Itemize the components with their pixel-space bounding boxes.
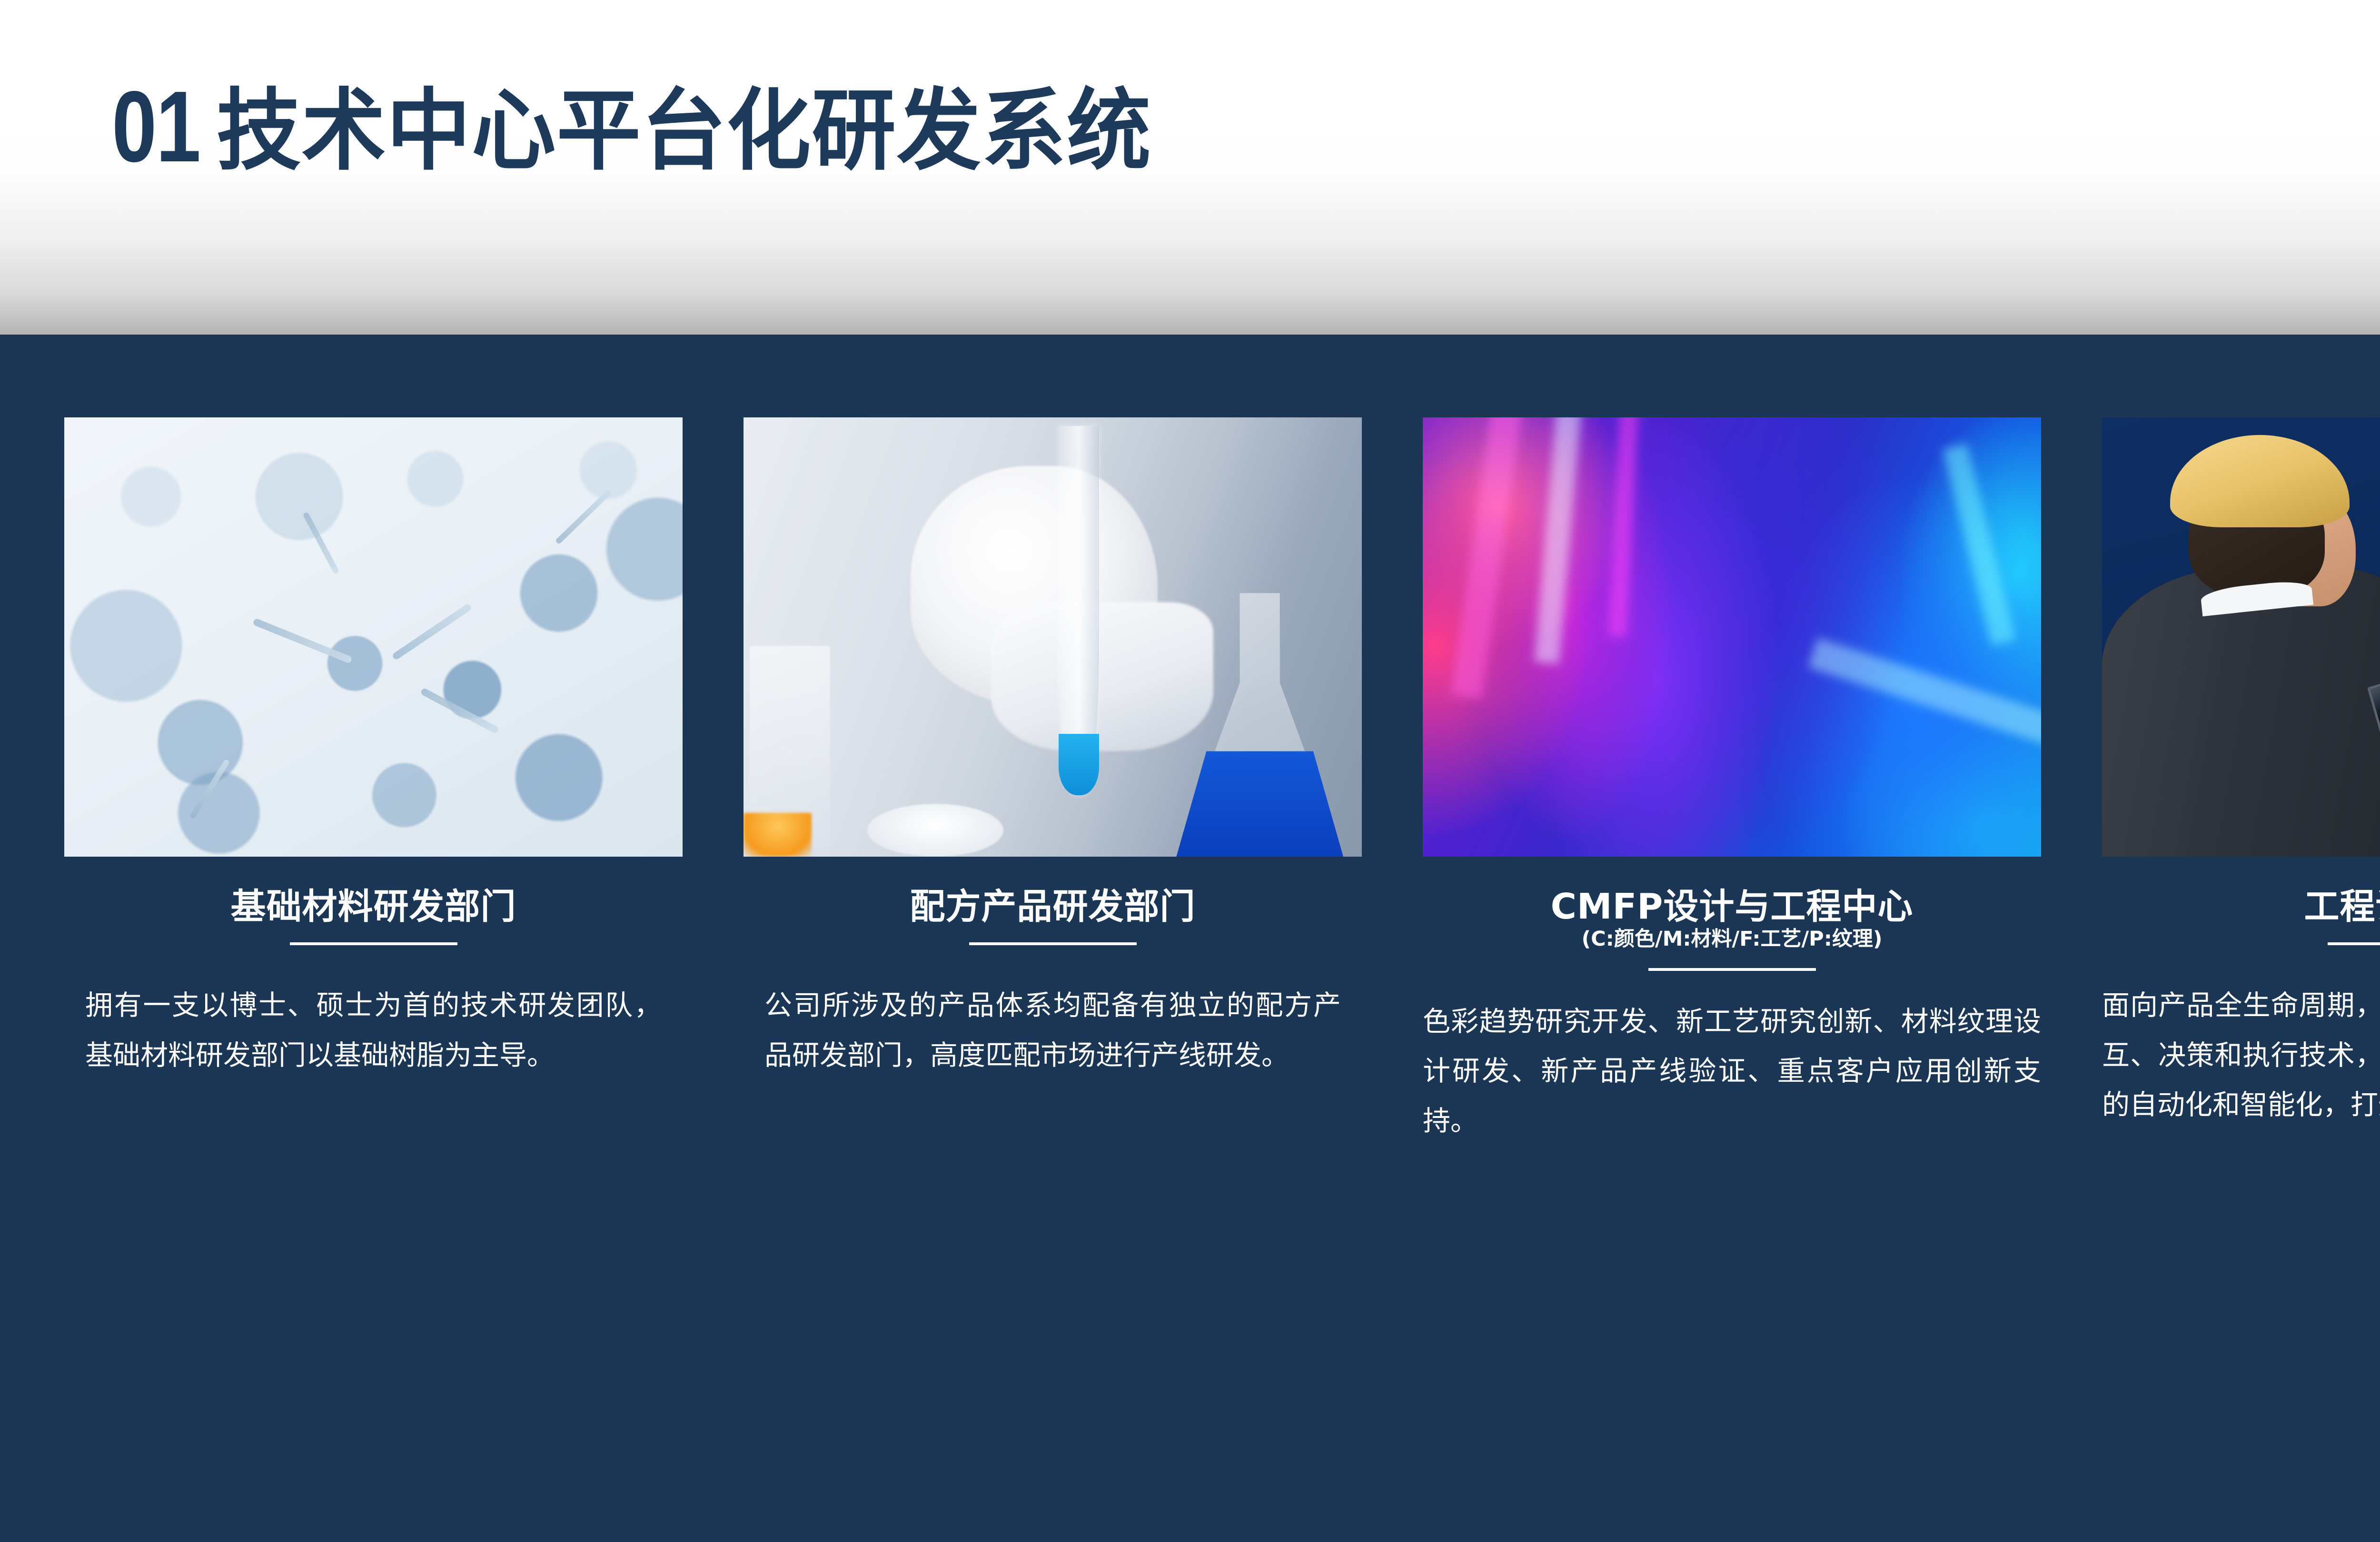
card-header: 基础材料研发部门 — [64, 857, 683, 945]
card-title: 工程设计中心 — [2102, 888, 2380, 925]
smart-engineering-hologram-image — [2102, 417, 2380, 857]
abstract-color-gradient-image — [1423, 417, 2041, 857]
card-title: 基础材料研发部门 — [64, 888, 683, 925]
title-divider — [1648, 968, 1816, 971]
card-grid: 基础材料研发部门 拥有一支以博士、硕士为首的技术研发团队，基础材料研发部门以基础… — [64, 417, 2380, 1146]
title-divider — [2328, 942, 2380, 945]
content-stage: 基础材料研发部门 拥有一支以博士、硕士为首的技术研发团队，基础材料研发部门以基础… — [0, 335, 2380, 1542]
card-description: 拥有一支以博士、硕士为首的技术研发团队，基础材料研发部门以基础树脂为主导。 — [64, 980, 683, 1080]
page-header: 01 技术中心平台化研发系统 — [0, 0, 2380, 335]
card-title: CMFP设计与工程中心 — [1423, 888, 2041, 925]
card-description: 面向产品全生命周期，通过智能化的感知、人机交互、决策和执行技术，实现设计、制造装… — [2102, 980, 2380, 1129]
card-cmfp-center[interactable]: CMFP设计与工程中心 (C:颜色/M:材料/F:工艺/P:纹理) 色彩趋势研究… — [1423, 417, 2041, 1146]
title-divider — [290, 942, 457, 945]
card-title: 配方产品研发部门 — [744, 888, 1362, 925]
card-description: 色彩趋势研究开发、新工艺研究创新、材料纹理设计研发、新产品产线验证、重点客户应用… — [1423, 997, 2041, 1146]
header-title-group: 01 技术中心平台化研发系统 — [112, 76, 1201, 177]
card-basic-materials[interactable]: 基础材料研发部门 拥有一支以博士、硕士为首的技术研发团队，基础材料研发部门以基础… — [64, 417, 683, 1146]
molecular-structure-image — [64, 417, 683, 857]
card-engineering-design-center[interactable]: 工程设计中心 面向产品全生命周期，通过智能化的感知、人机交互、决策和执行技术，实… — [2102, 417, 2380, 1146]
card-header: 配方产品研发部门 — [744, 857, 1362, 945]
title-divider — [969, 942, 1137, 945]
card-subtitle: (C:颜色/M:材料/F:工艺/P:纹理) — [1423, 928, 2041, 950]
card-formula-products[interactable]: 配方产品研发部门 公司所涉及的产品体系均配备有独立的配方产品研发部门，高度匹配市… — [744, 417, 1362, 1146]
laboratory-test-tube-image — [744, 417, 1362, 857]
section-number: 01 — [112, 76, 200, 177]
card-header: CMFP设计与工程中心 (C:颜色/M:材料/F:工艺/P:纹理) — [1423, 857, 2041, 971]
card-header: 工程设计中心 — [2102, 857, 2380, 945]
page-title: 技术中心平台化研发系统 — [217, 87, 1152, 175]
card-description: 公司所涉及的产品体系均配备有独立的配方产品研发部门，高度匹配市场进行产线研发。 — [744, 980, 1362, 1080]
